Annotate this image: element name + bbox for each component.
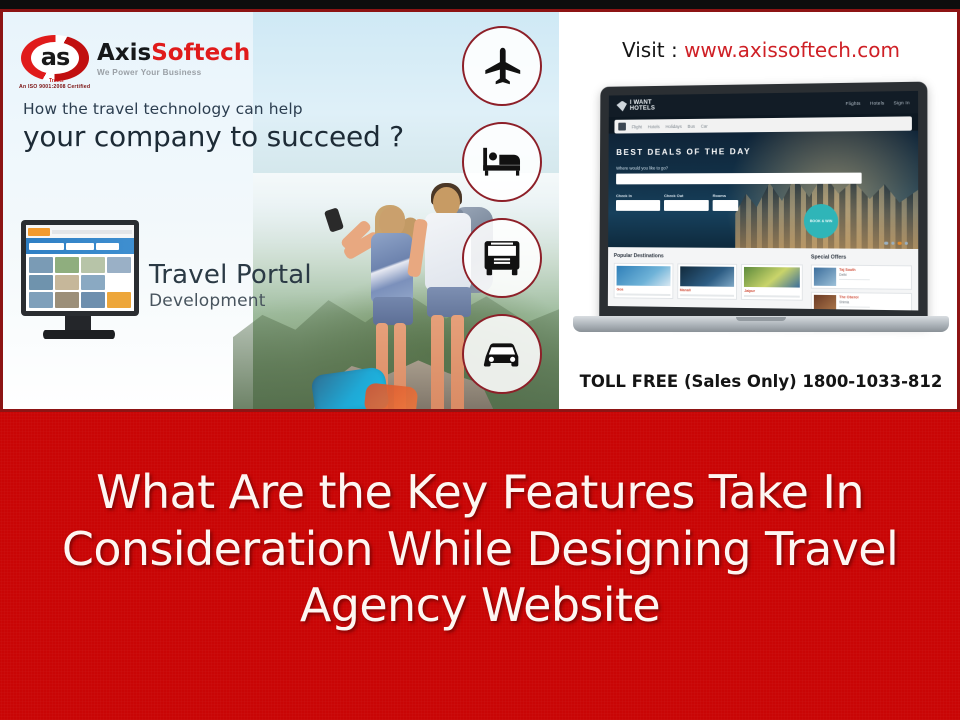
logo-monogram: as — [31, 41, 79, 73]
title-line-1: What Are the Key Features Take In — [40, 464, 920, 521]
website-url[interactable]: www.axissoftech.com — [684, 38, 900, 62]
top-letterbox-bar — [0, 0, 960, 9]
mockup-promo-badge[interactable]: BOOK & WIN — [804, 204, 838, 238]
laptop-base — [573, 316, 949, 332]
toll-free-number: TOLL FREE (Sales Only) 1800-1033-812 — [559, 372, 957, 391]
mockup-tab[interactable]: Bus — [688, 123, 695, 128]
laptop-mockup: I WANT HOTELS Flights Hotels Sign In — [573, 84, 949, 356]
video-frame: as Travel An ISO 9001:2008 Certified Axi… — [0, 0, 960, 720]
ground-backpack-orange — [364, 382, 419, 409]
banner-right-pane: Visit : www.axissoftech.com I WANT HOTEL… — [559, 12, 957, 409]
mockup-hero-sub: Where would you like to go? — [616, 164, 910, 170]
axis-softech-logo[interactable]: as Travel An ISO 9001:2008 Certified Axi… — [19, 34, 269, 96]
visit-line: Visit : www.axissoftech.com — [559, 38, 957, 62]
mockup-nav-item[interactable]: Flights — [846, 100, 861, 105]
destination-name: Goa — [617, 287, 671, 292]
mockup-logo-line2: HOTELS — [630, 106, 655, 113]
travel-portal-heading: Travel Portal Development — [149, 260, 312, 311]
service-icon-column — [462, 26, 546, 409]
mockup-nav-item[interactable]: Sign In — [894, 100, 910, 105]
offer-sub: Delhi — [839, 273, 870, 277]
mockup-checkout-input[interactable] — [664, 200, 709, 211]
mockup-nav: Flights Hotels Sign In — [846, 100, 910, 106]
mockup-field-label: Rooms — [713, 193, 739, 198]
mockup-hero-title: BEST DEALS OF THE DAY — [616, 145, 910, 157]
bus-icon[interactable] — [462, 218, 542, 298]
mockup-tab-icon — [618, 123, 626, 131]
headline-line-2: your company to succeed ? — [23, 120, 353, 153]
mockup-site-header: I WANT HOTELS Flights Hotels Sign In — [609, 91, 918, 117]
mockup-section-title: Special Offers — [811, 254, 912, 261]
mockup-tab[interactable]: Hotels — [648, 124, 660, 129]
desktop-monitor-illustration — [21, 220, 141, 345]
portal-title-sub: Development — [149, 291, 312, 311]
mockup-popular-destinations: Popular Destinations Goa — [614, 253, 803, 309]
mockup-destination-input[interactable] — [616, 173, 861, 185]
title-banner: What Are the Key Features Take In Consid… — [0, 412, 960, 720]
promo-banner: as Travel An ISO 9001:2008 Certified Axi… — [0, 9, 960, 412]
mockup-carousel-dots[interactable] — [884, 241, 908, 245]
mockup-section-title: Popular Destinations — [614, 253, 803, 260]
mockup-field-label: Check Out — [664, 193, 709, 198]
mockup-nav-item[interactable]: Hotels — [870, 100, 885, 105]
mockup-tab[interactable]: Flight — [632, 124, 642, 129]
mockup-field-label: Check In — [616, 193, 660, 198]
destination-name: Manali — [680, 288, 735, 293]
banner-headline: How the travel technology can help your … — [23, 100, 353, 153]
logo-name-first: Axis — [97, 40, 151, 66]
offer-item[interactable]: The Oberoi Shimla — [811, 292, 912, 311]
mockup-site-logo: I WANT HOTELS — [616, 99, 655, 112]
car-icon[interactable] — [462, 314, 542, 394]
mockup-logo-icon — [616, 101, 627, 112]
offer-title: The Oberoi — [839, 295, 870, 299]
visit-label: Visit : — [622, 38, 684, 62]
logo-iso-label: An ISO 9001:2008 Certified — [19, 84, 115, 90]
mockup-rooms-input[interactable] — [713, 200, 739, 211]
logo-wordmark: AxisSoftech We Power Your Business — [97, 42, 250, 77]
destination-card[interactable]: Jaipur — [741, 264, 803, 300]
mockup-tab[interactable]: Holidays — [665, 123, 681, 128]
flight-icon[interactable] — [462, 26, 542, 106]
title-line-2: Consideration While Designing Travel — [40, 521, 920, 578]
destination-name: Jaipur — [744, 289, 800, 294]
offer-sub: Shimla — [839, 300, 870, 304]
mockup-checkin-input[interactable] — [616, 200, 660, 211]
logo-name-second: Softech — [151, 40, 250, 66]
mockup-special-offers: Special Offers Taj South Delhi — [811, 254, 912, 310]
mockup-hero: BEST DEALS OF THE DAY Where would you li… — [608, 131, 918, 249]
logo-mark-icon: as — [19, 34, 91, 84]
offer-item[interactable]: Taj South Delhi — [811, 264, 912, 289]
mockup-lower-section: Popular Destinations Goa — [608, 247, 918, 310]
mockup-tab[interactable]: Car — [701, 123, 708, 128]
destination-card[interactable]: Goa — [614, 263, 674, 299]
logo-tagline: We Power Your Business — [97, 68, 250, 77]
page-title: What Are the Key Features Take In Consid… — [40, 464, 920, 634]
offer-title: Taj South — [839, 268, 870, 272]
title-line-3: Agency Website — [40, 577, 920, 634]
hotel-icon[interactable] — [462, 122, 542, 202]
portal-title-main: Travel Portal — [149, 260, 312, 290]
laptop-screen: I WANT HOTELS Flights Hotels Sign In — [608, 91, 918, 311]
headline-line-1: How the travel technology can help — [23, 100, 353, 118]
destination-card[interactable]: Manali — [677, 263, 738, 299]
